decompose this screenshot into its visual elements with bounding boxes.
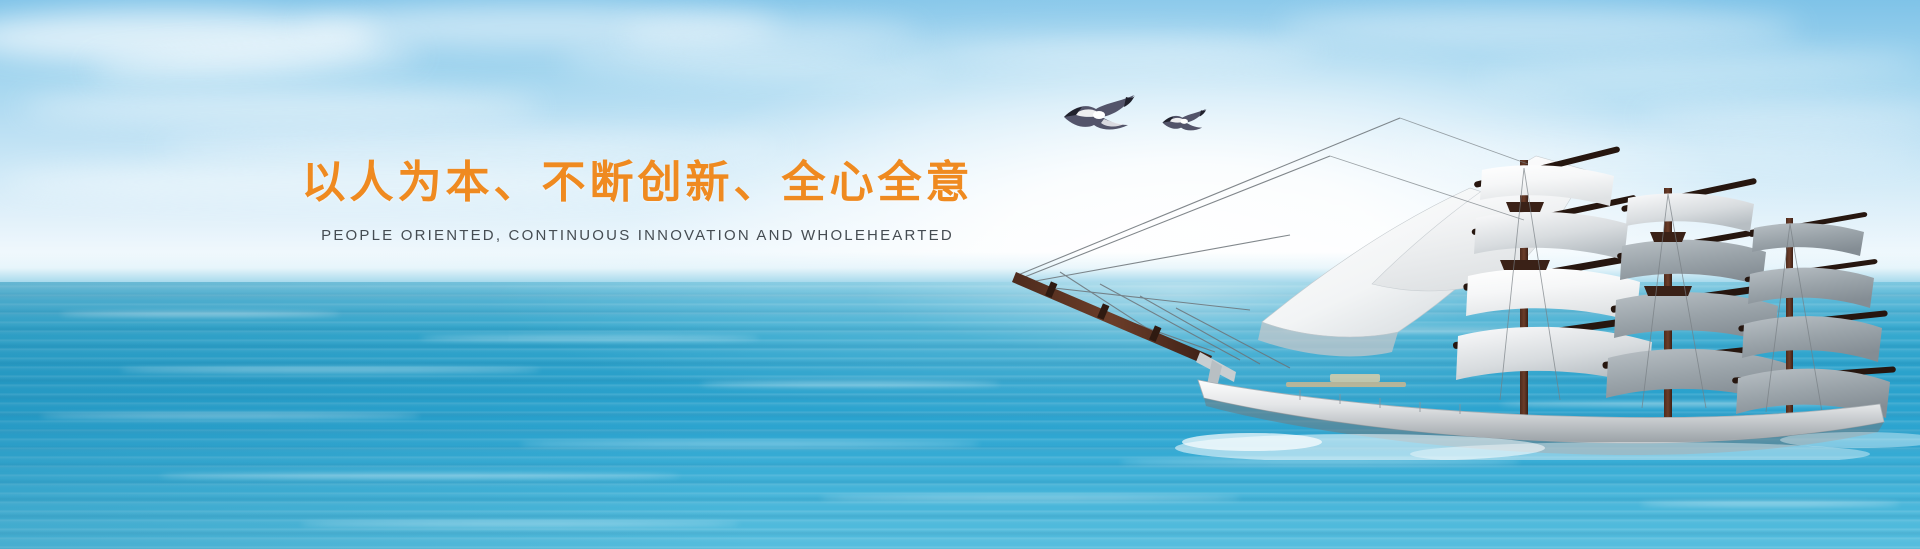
hero-banner: 以人为本、不断创新、全心全意 PEOPLE ORIENTED, CONTINUO… (0, 0, 1920, 549)
wave-streak (420, 336, 760, 340)
banner-text-block: 以人为本、不断创新、全心全意 PEOPLE ORIENTED, CONTINUO… (0, 155, 1275, 244)
ship-mast-mizzen (1732, 212, 1896, 432)
wave-streak (120, 368, 540, 372)
seagull-icon (1064, 95, 1135, 130)
wave-streak (60, 312, 340, 316)
wave-streak (300, 522, 740, 526)
banner-headline: 以人为本、不断创新、全心全意 (0, 155, 1275, 211)
wave-streak (520, 442, 980, 446)
seagull-icon (1162, 109, 1206, 130)
wave-streak (1640, 502, 1900, 506)
wave-streak (40, 414, 420, 418)
wave-streak (160, 474, 680, 478)
wave-streak (1120, 460, 1520, 464)
seagulls (1060, 95, 1240, 155)
wave-streak (820, 496, 1240, 500)
banner-subheadline: PEOPLE ORIENTED, CONTINUOUS INNOVATION A… (0, 227, 1275, 244)
wave-streak (700, 382, 1000, 386)
ship-bowsprit (1012, 272, 1236, 392)
